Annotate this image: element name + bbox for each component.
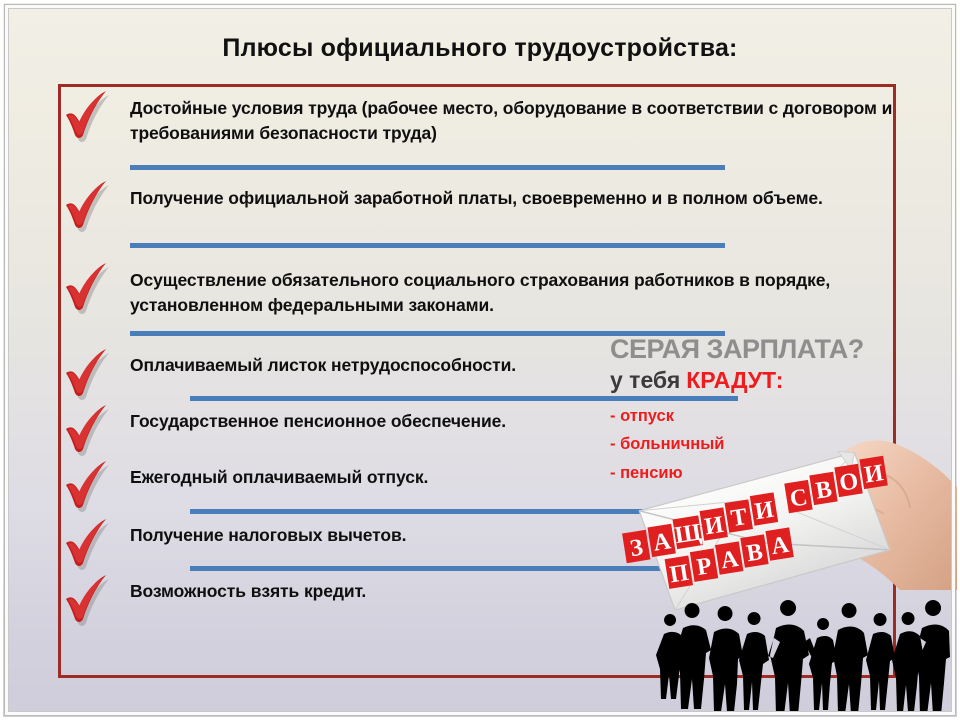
gray-salary-subheading-accent: КРАДУТ: (686, 367, 783, 393)
gray-salary-subheading: у тебяКРАДУТ: (610, 369, 950, 392)
benefit-text: Получение налоговых вычетов. (130, 523, 590, 548)
check-mark-icon (60, 458, 116, 514)
check-mark-icon (60, 260, 116, 316)
benefit-text: Государственное пенсионное обеспечение. (130, 409, 630, 434)
svg-text:Щ: Щ (673, 519, 704, 549)
page-title: Плюсы официального трудоустройства: (0, 34, 960, 63)
people-silhouettes-icon (640, 600, 950, 712)
gray-salary-heading: СЕРАЯ ЗАРПЛАТА? (610, 336, 950, 363)
gray-salary-subheading-plain: у тебя (610, 367, 680, 393)
benefit-text: Получение официальной заработной платы, … (130, 186, 830, 211)
check-mark-icon (60, 402, 116, 458)
benefit-text: Достойные условия труда (рабочее место, … (130, 96, 900, 146)
check-mark-icon (60, 346, 116, 402)
slide-canvas: Плюсы официального трудоустройства: Дост… (0, 0, 960, 720)
benefit-text: Осуществление обязательного социального … (130, 268, 870, 318)
stolen-benefit-item: - отпуск (610, 402, 950, 430)
check-mark-icon (60, 88, 116, 144)
benefit-text: Ежегодный оплачиваемый отпуск. (130, 465, 590, 490)
benefit-text: Оплачиваемый листок нетрудоспособности. (130, 353, 630, 378)
check-mark-icon (60, 178, 116, 234)
check-mark-icon (60, 516, 116, 572)
benefit-text: Возможность взять кредит. (130, 579, 590, 604)
check-mark-icon (60, 572, 116, 628)
